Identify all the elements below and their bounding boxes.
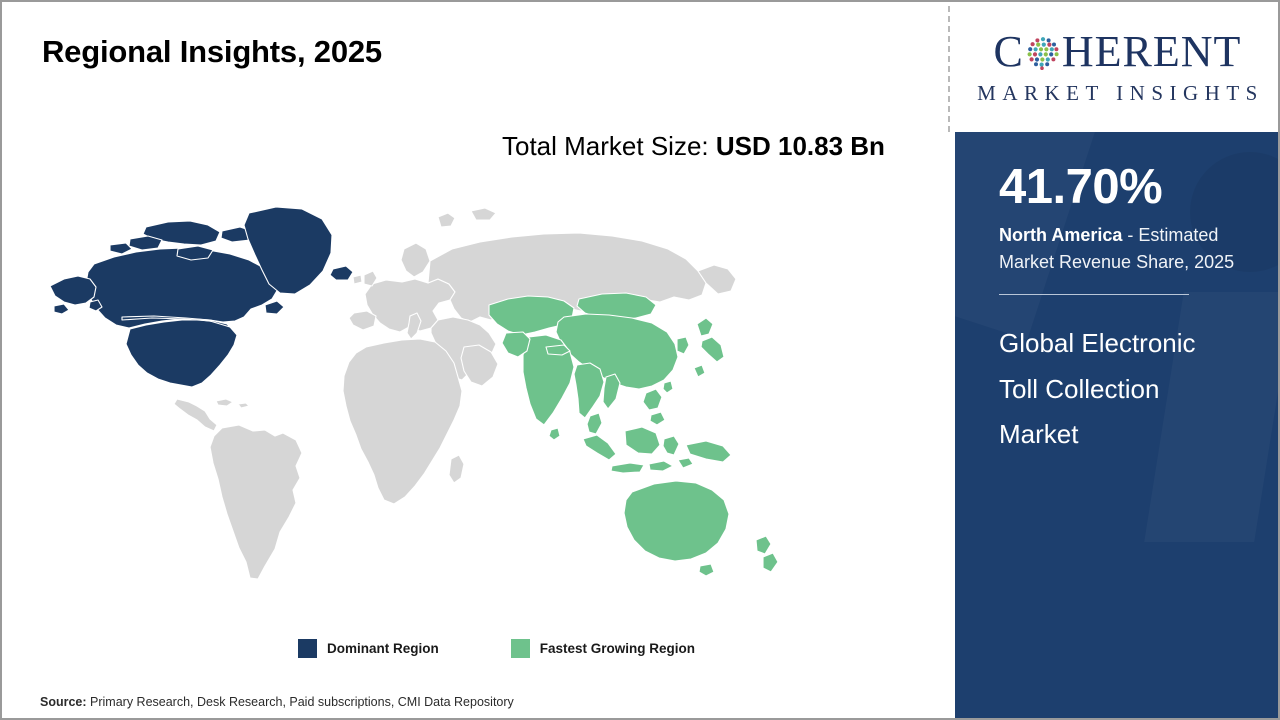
world-map-svg	[34, 187, 914, 617]
vertical-dashed-divider	[948, 6, 950, 132]
page-title: Regional Insights, 2025	[42, 34, 382, 70]
stat-description: North America - Estimated Market Revenue…	[999, 222, 1240, 276]
legend-label-dominant: Dominant Region	[327, 641, 439, 656]
square-swatch-icon	[298, 639, 317, 658]
left-content-pane: Regional Insights, 2025 Total Market Siz…	[2, 2, 948, 718]
logo-wordmark: C	[994, 30, 1242, 74]
regional-insights-slide: Regional Insights, 2025 Total Market Siz…	[0, 0, 1280, 720]
square-swatch-icon	[511, 639, 530, 658]
world-map	[34, 187, 914, 617]
source-label: Source:	[40, 695, 87, 709]
panel-content: 41.70% North America - Estimated Market …	[955, 132, 1280, 458]
company-logo: C	[955, 6, 1280, 130]
panel-divider-rule	[999, 294, 1189, 295]
globe-dots-icon	[1025, 35, 1061, 71]
map-legend: Dominant Region Fastest Growing Region	[298, 639, 695, 658]
map-region-asia-pacific	[489, 293, 778, 576]
legend-label-fastest-growing: Fastest Growing Region	[540, 641, 695, 656]
map-region-north-america	[50, 207, 353, 387]
legend-item-fastest-growing: Fastest Growing Region	[511, 639, 695, 658]
total-market-size-value: USD 10.83 Bn	[716, 131, 885, 161]
source-note: Source: Primary Research, Desk Research,…	[40, 695, 514, 709]
source-text: Primary Research, Desk Research, Paid su…	[87, 695, 514, 709]
stat-percentage: 41.70%	[999, 162, 1240, 213]
total-market-size: Total Market Size: USD 10.83 Bn	[502, 128, 922, 166]
logo-subtitle: MARKET INSIGHTS	[971, 81, 1264, 106]
stat-region-name: North America	[999, 225, 1122, 245]
legend-item-dominant: Dominant Region	[298, 639, 439, 658]
logo-word-herent: HERENT	[1062, 30, 1242, 74]
logo-letter-c: C	[994, 30, 1024, 74]
side-stat-panel: 41.70% North America - Estimated Market …	[955, 132, 1280, 718]
market-report-name: Global Electronic Toll Collection Market	[999, 321, 1235, 458]
total-market-size-label: Total Market Size:	[502, 131, 716, 161]
